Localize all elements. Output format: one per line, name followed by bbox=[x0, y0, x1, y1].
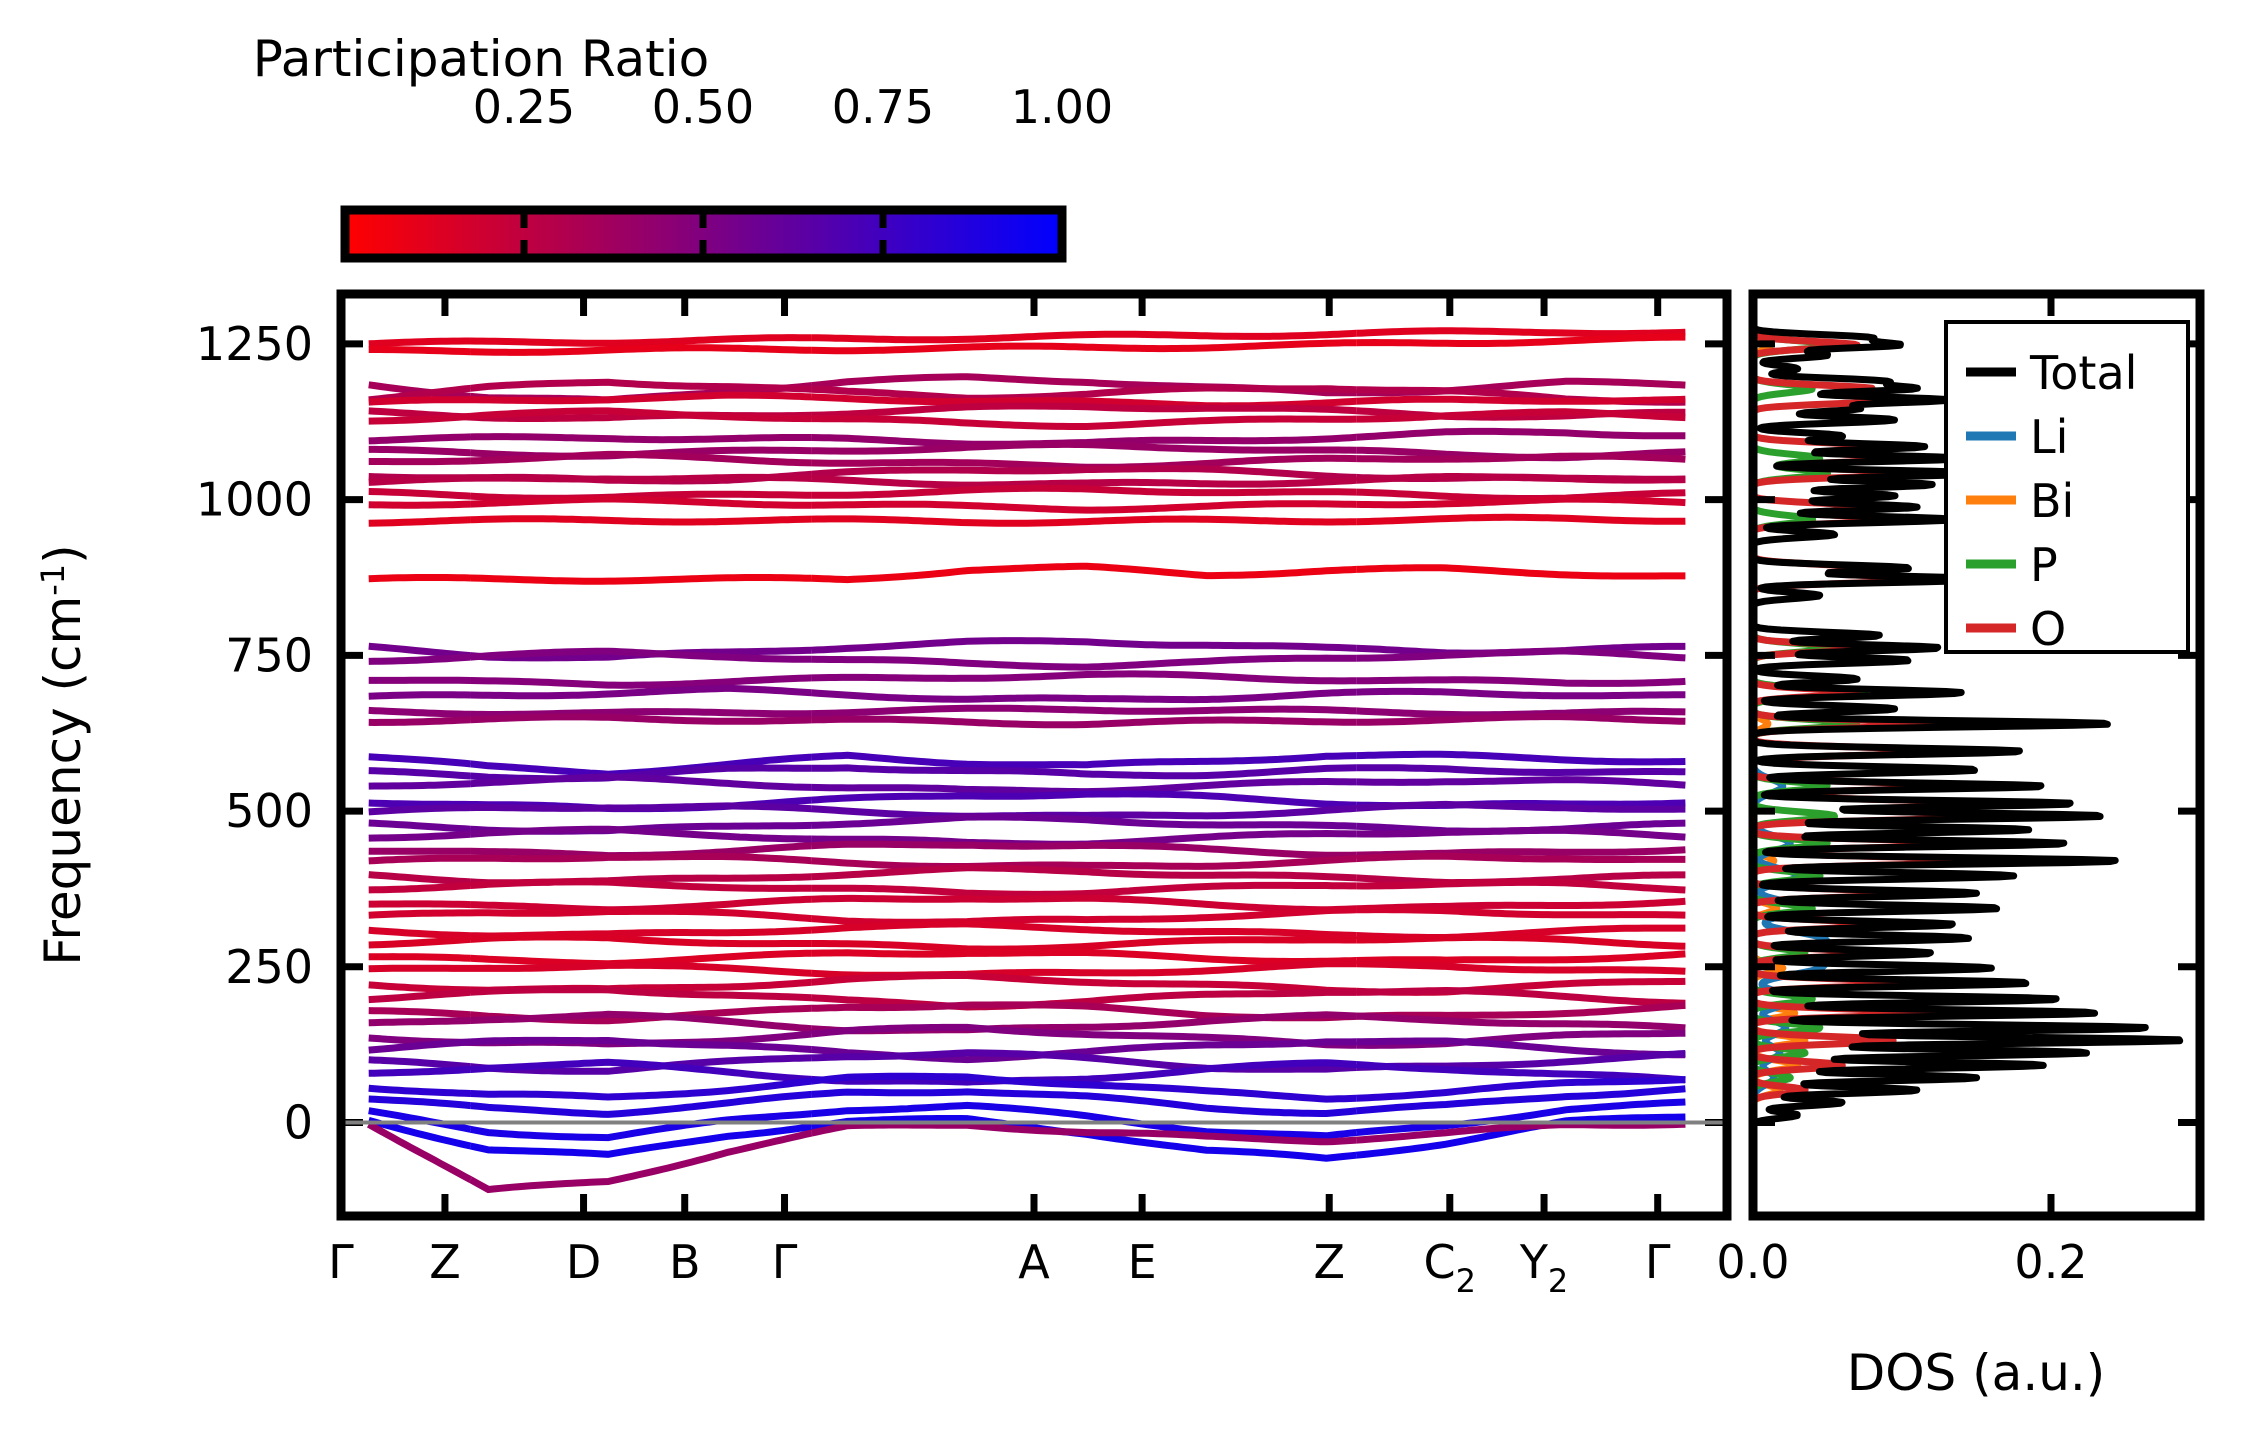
legend-label-bi: Bi bbox=[2030, 474, 2074, 528]
dos-legend: TotalLiBiPO bbox=[1946, 322, 2188, 656]
band-segment bbox=[471, 806, 812, 809]
band-segment bbox=[369, 695, 471, 696]
y-tick-label: 1250 bbox=[196, 317, 313, 371]
dos-x-tick-label: 0.2 bbox=[2014, 1235, 2087, 1289]
band-segment bbox=[369, 957, 471, 959]
band-segment bbox=[369, 657, 471, 661]
dos-axis-label: DOS (a.u.) bbox=[1847, 1344, 2106, 1402]
band-segment bbox=[369, 449, 471, 452]
band-segment bbox=[369, 803, 471, 805]
band-segment bbox=[369, 492, 471, 497]
band-segment bbox=[1356, 331, 1685, 334]
band-segment bbox=[369, 478, 471, 482]
colorbar-tick-0: 0.25 bbox=[473, 80, 575, 134]
x-tick-label: B bbox=[669, 1235, 701, 1289]
band-segment bbox=[812, 519, 1357, 523]
ylabel-superscript: -1 bbox=[34, 564, 72, 596]
band-segment bbox=[471, 519, 812, 522]
band-segment bbox=[1356, 680, 1685, 684]
band-segment bbox=[369, 784, 471, 786]
band-segment bbox=[471, 437, 812, 440]
band-segment bbox=[369, 504, 471, 505]
band-segment bbox=[369, 1070, 471, 1074]
x-tick-label: A bbox=[1018, 1235, 1050, 1289]
y-tick-label: 500 bbox=[225, 784, 313, 838]
dos-x-tick-label: 0.0 bbox=[1716, 1235, 1789, 1289]
phonon-figure: Participation Ratio 0.25 0.50 0.75 1.00 … bbox=[0, 0, 2259, 1455]
band-segment bbox=[369, 1021, 471, 1023]
x-tick-label: D bbox=[566, 1235, 601, 1289]
band-segment bbox=[471, 857, 812, 861]
y-axis-label: Frequency (cm-1) bbox=[34, 544, 92, 965]
legend-label-p: P bbox=[2030, 538, 2058, 592]
figure-canvas: Participation Ratio 0.25 0.50 0.75 1.00 … bbox=[0, 0, 2259, 1455]
x-tick-label: Γ bbox=[1645, 1235, 1671, 1289]
band-segment bbox=[471, 712, 812, 715]
band-segment bbox=[1356, 477, 1685, 481]
y-tick-label: 1000 bbox=[196, 473, 313, 527]
band-segment bbox=[369, 341, 471, 344]
colorbar-tick-3: 1.00 bbox=[1011, 80, 1113, 134]
x-tick-label: Γ bbox=[328, 1235, 354, 1289]
band-segment bbox=[369, 461, 471, 462]
band-segment bbox=[369, 834, 471, 838]
band-segment bbox=[369, 808, 471, 812]
ylabel-tail: ) bbox=[34, 544, 92, 564]
legend-label-li: Li bbox=[2030, 410, 2068, 464]
band-segment bbox=[369, 437, 471, 441]
band-segment bbox=[369, 578, 471, 579]
ylabel-main: Frequency (cm bbox=[34, 596, 92, 966]
colorbar-tick-2: 0.75 bbox=[832, 80, 934, 134]
band-segment bbox=[471, 477, 812, 479]
band-segment bbox=[1356, 856, 1685, 859]
colorbar-tick-1: 0.50 bbox=[652, 80, 754, 134]
band-segment bbox=[471, 578, 812, 582]
band-segment bbox=[369, 1011, 471, 1015]
band-segment bbox=[369, 858, 471, 861]
y-tick-label: 750 bbox=[225, 628, 313, 682]
band-segment bbox=[369, 904, 471, 905]
x-tick-label: Γ bbox=[772, 1235, 798, 1289]
band-segment bbox=[369, 350, 471, 352]
band-segment bbox=[369, 886, 471, 890]
x-tick-label: Z bbox=[429, 1235, 461, 1289]
band-segment bbox=[369, 710, 471, 714]
band-segment bbox=[369, 520, 471, 523]
y-tick-label: 250 bbox=[225, 940, 313, 994]
band-segment bbox=[1356, 399, 1685, 401]
x-tick-label: Z bbox=[1313, 1235, 1345, 1289]
x-tick-label: E bbox=[1128, 1235, 1157, 1289]
band-segment bbox=[369, 913, 471, 915]
legend-label-o: O bbox=[2030, 602, 2066, 656]
y-tick-label: 0 bbox=[284, 1096, 313, 1150]
band-segment bbox=[1356, 456, 1685, 459]
band-segment bbox=[369, 720, 471, 723]
band-segment bbox=[369, 968, 471, 969]
band-segment bbox=[369, 400, 471, 402]
svg-text:Frequency (cm-1): Frequency (cm-1) bbox=[34, 544, 92, 965]
legend-label-total: Total bbox=[2029, 346, 2137, 400]
